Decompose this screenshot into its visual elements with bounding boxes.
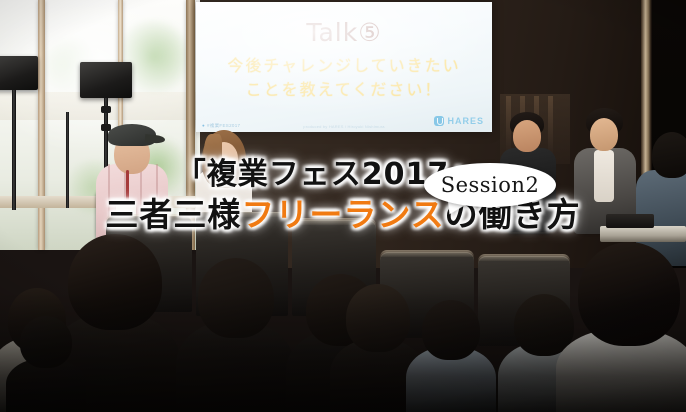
session-badge-label: Session2 <box>441 173 540 197</box>
aud-6-head <box>422 300 480 360</box>
grey-jacket-head <box>590 118 618 151</box>
slide-title: Talk⑤ <box>196 18 492 47</box>
seat-edge-2 <box>196 212 288 217</box>
microphone-stand <box>66 112 69 208</box>
aud-5-head <box>346 284 410 352</box>
audience-member-6 <box>406 308 496 412</box>
hares-logo: HARES <box>434 116 484 126</box>
aud-9-head <box>20 316 72 368</box>
aud-2-head <box>68 234 162 330</box>
projector-screen: Talk⑤ 今後チャレンジしていきたい ことを教えてください！ produced… <box>196 2 492 132</box>
session-badge: Session2 <box>424 163 556 207</box>
slide-line-2: ことを教えてください！ <box>196 76 492 100</box>
grey-jacket-shirt <box>594 150 614 202</box>
hares-logo-text: HARES <box>447 116 484 126</box>
slide-footer-note: produced by HARES / Hiroyuki Nishimura <box>303 124 384 129</box>
event-photo: Talk⑤ 今後チャレンジしていきたい ことを教えてください！ produced… <box>0 0 686 412</box>
audience-foreground <box>0 212 686 412</box>
blue-shirt-head <box>652 132 686 178</box>
aud-3-head <box>198 258 274 338</box>
flat-cap <box>108 124 156 146</box>
pa-speaker-center <box>80 62 132 98</box>
aud-8-head <box>578 242 680 346</box>
black-tee-head <box>513 120 541 152</box>
seat-edge-4 <box>380 250 474 257</box>
pa-speaker-left <box>0 56 38 90</box>
speaker-stand-left <box>12 90 16 210</box>
audience-member-8 <box>556 236 686 412</box>
hares-mark-icon <box>434 116 444 126</box>
seat-edge-3 <box>292 218 376 225</box>
woman-hair-front <box>204 134 222 176</box>
audience-member-3 <box>176 262 294 412</box>
seat-edge-1 <box>106 214 192 221</box>
lanyard <box>126 170 129 204</box>
slide-line-1: 今後チャレンジしていきたい <box>196 52 492 76</box>
audience-member-9 <box>6 326 86 412</box>
